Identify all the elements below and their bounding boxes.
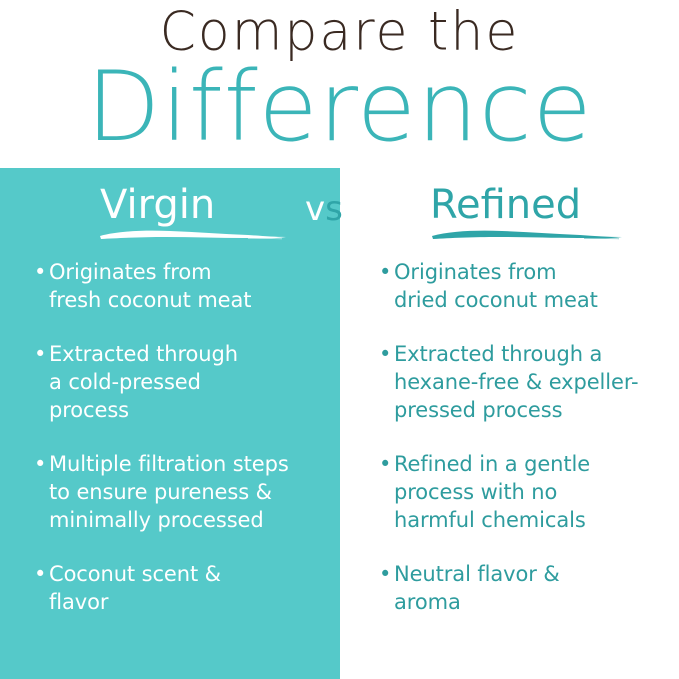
- list-item-text: Coconut scent & flavor: [49, 560, 326, 616]
- left-column-bullet-list: • Originates from fresh coconut meat • E…: [34, 258, 326, 642]
- right-heading-brush-underline-icon: [430, 228, 625, 241]
- list-item: • Multiple filtration steps to ensure pu…: [34, 450, 326, 534]
- left-column-heading: Virgin: [100, 182, 290, 228]
- bullet-dot-icon: •: [34, 560, 49, 616]
- list-item-text: Extracted through a hexane-free & expell…: [394, 340, 669, 424]
- bullet-dot-icon: •: [34, 450, 49, 534]
- list-item: • Coconut scent & flavor: [34, 560, 326, 616]
- bullet-dot-icon: •: [34, 340, 49, 424]
- list-item-text: Originates from dried coconut meat: [394, 258, 669, 314]
- versus-separator: vs: [305, 189, 343, 229]
- list-item-text: Extracted through a cold-pressed process: [49, 340, 326, 424]
- versus-separator-second-char: s: [325, 189, 343, 229]
- list-item-text: Refined in a gentle process with no harm…: [394, 450, 669, 534]
- left-heading-brush-underline-icon: [98, 228, 288, 241]
- header: Compare the Difference: [0, 0, 679, 168]
- list-item: • Neutral flavor & aroma: [379, 560, 669, 616]
- page-title-line2: Difference: [0, 52, 679, 162]
- bullet-dot-icon: •: [379, 450, 394, 534]
- list-item: • Originates from fresh coconut meat: [34, 258, 326, 314]
- list-item: • Extracted through a hexane-free & expe…: [379, 340, 669, 424]
- list-item: • Originates from dried coconut meat: [379, 258, 669, 314]
- bullet-dot-icon: •: [379, 258, 394, 314]
- bullet-dot-icon: •: [34, 258, 49, 314]
- list-item-text: Originates from fresh coconut meat: [49, 258, 326, 314]
- comparison-infographic: Compare the Difference Virgin Refined vs…: [0, 0, 679, 679]
- list-item-text: Multiple filtration steps to ensure pure…: [49, 450, 326, 534]
- bullet-dot-icon: •: [379, 340, 394, 424]
- list-item-text: Neutral flavor & aroma: [394, 560, 669, 616]
- right-column-heading: Refined: [430, 182, 650, 228]
- right-column-bullet-list: • Originates from dried coconut meat • E…: [379, 258, 669, 642]
- versus-separator-first-char: v: [305, 189, 325, 229]
- list-item: • Refined in a gentle process with no ha…: [379, 450, 669, 534]
- bullet-dot-icon: •: [379, 560, 394, 616]
- list-item: • Extracted through a cold-pressed proce…: [34, 340, 326, 424]
